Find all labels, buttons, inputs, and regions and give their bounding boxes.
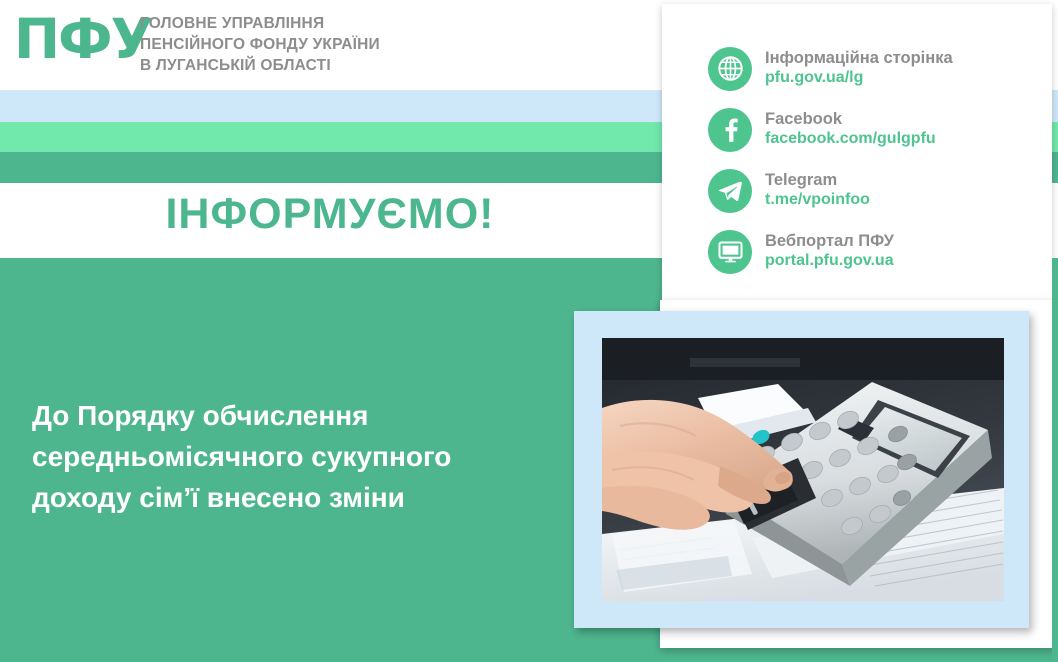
poster-header: ПФУ ГОЛОВНЕ УПРАВЛІННЯ ПЕНСІЙНОГО ФОНДУ … (0, 0, 660, 90)
contact-item-facebook[interactable]: Facebook facebook.com/gulgpfu (708, 99, 953, 160)
contact-texts: Інформаційна сторінка pfu.gov.ua/lg (765, 50, 953, 86)
pfu-logo: ПФУ (14, 10, 151, 68)
contact-item-website[interactable]: Інформаційна сторінка pfu.gov.ua/lg (708, 38, 953, 99)
contacts-list: Інформаційна сторінка pfu.gov.ua/lg Face… (708, 38, 953, 282)
monitor-icon (708, 230, 752, 274)
organization-name: ГОЛОВНЕ УПРАВЛІННЯ ПЕНСІЙНОГО ФОНДУ УКРА… (140, 13, 380, 76)
contacts-card: Інформаційна сторінка pfu.gov.ua/lg Face… (662, 4, 1052, 310)
organization-line-2: ПЕНСІЙНОГО ФОНДУ УКРАЇНИ (140, 34, 380, 55)
contact-url[interactable]: facebook.com/gulgpfu (765, 130, 936, 147)
contact-label: Facebook (765, 111, 936, 129)
contact-label: Інформаційна сторінка (765, 50, 953, 68)
contact-item-webportal[interactable]: Вебпортал ПФУ portal.pfu.gov.ua (708, 221, 953, 282)
contact-item-telegram[interactable]: Telegram t.me/vpoinfoo (708, 160, 953, 221)
calculator-photo (602, 338, 1004, 601)
contact-texts: Facebook facebook.com/gulgpfu (765, 111, 936, 147)
contact-label: Вебпортал ПФУ (765, 233, 894, 251)
contact-texts: Вебпортал ПФУ portal.pfu.gov.ua (765, 233, 894, 269)
contact-url[interactable]: t.me/vpoinfoo (765, 191, 870, 208)
page-title: ІНФОРМУЄМО! (0, 190, 660, 239)
contact-label: Telegram (765, 172, 870, 190)
photo-frame (574, 311, 1029, 628)
organization-line-3: В ЛУГАНСЬКІЙ ОБЛАСТІ (140, 55, 380, 76)
telegram-icon (708, 169, 752, 213)
announcement-text: До Порядку обчислення середньомісячного … (32, 395, 552, 518)
contact-texts: Telegram t.me/vpoinfoo (765, 172, 870, 208)
facebook-icon (708, 108, 752, 152)
pfu-information-poster: ПФУ ГОЛОВНЕ УПРАВЛІННЯ ПЕНСІЙНОГО ФОНДУ … (0, 0, 1058, 662)
right-green-edge (1052, 258, 1058, 662)
contact-url[interactable]: pfu.gov.ua/lg (765, 69, 953, 86)
globe-icon (708, 47, 752, 91)
contact-url[interactable]: portal.pfu.gov.ua (765, 252, 894, 269)
organization-line-1: ГОЛОВНЕ УПРАВЛІННЯ (140, 13, 380, 34)
